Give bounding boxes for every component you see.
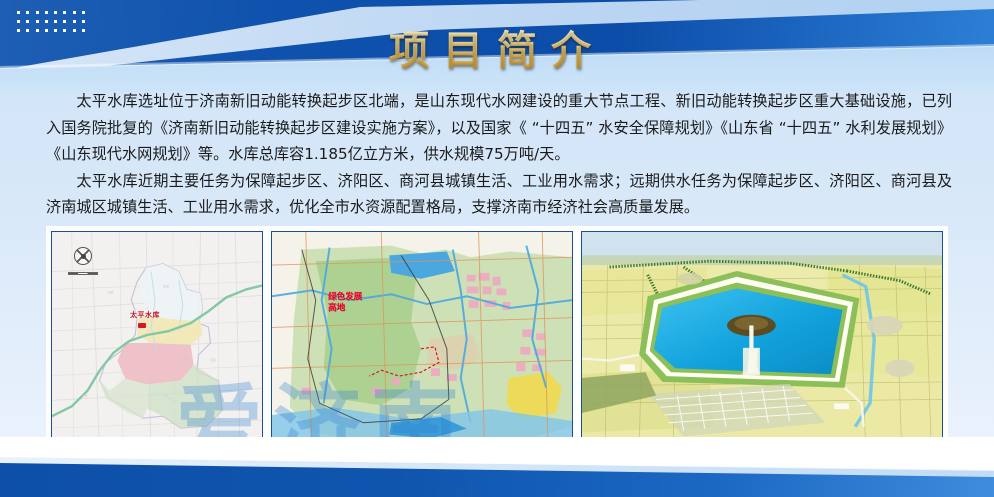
paragraph-1: 太平水库选址位于济南新旧动能转换起步区北端，是山东现代水网建设的重大节点工程、新…	[46, 88, 952, 168]
page-title: 项目简介	[0, 18, 994, 76]
compass-icon	[74, 247, 92, 265]
regional-map-canvas: 县城乡镇 街道城区 南部西部 太平水库	[52, 232, 262, 452]
svg-text:县城: 县城	[163, 283, 169, 288]
panel-landuse-plan[interactable]: 绿色发展 高地	[271, 231, 573, 453]
panel-regional-map[interactable]: 县城乡镇 街道城区 南部西部 太平水库	[51, 231, 263, 453]
paragraph-2: 太平水库近期主要任务为保障起步区、济阳区、商河县城镇生活、工业用水需求；远期供水…	[46, 168, 952, 221]
panel-aerial-rendering[interactable]	[581, 231, 943, 453]
body-text-block: 太平水库选址位于济南新旧动能转换起步区北端，是山东现代水网建设的重大节点工程、新…	[46, 88, 952, 221]
slide-root: 项目简介 太平水库选址位于济南新旧动能转换起步区北端，是山东现代水网建设的重大节…	[0, 0, 994, 497]
landuse-map-label-line1: 绿色发展	[328, 292, 362, 303]
reservoir-map-label: 太平水库	[130, 310, 160, 320]
svg-text:西部: 西部	[82, 392, 88, 397]
landuse-map-canvas: 绿色发展 高地	[272, 232, 572, 452]
slide-footer	[0, 437, 994, 497]
landuse-map-graphic	[272, 232, 572, 452]
svg-text:南部: 南部	[201, 416, 207, 421]
svg-text:乡镇: 乡镇	[107, 289, 113, 294]
scale-bar-icon	[68, 272, 98, 275]
regional-map-roads: 县城乡镇 街道城区 南部西部	[52, 232, 262, 453]
svg-text:城区: 城区	[183, 355, 189, 360]
image-gallery: 县城乡镇 街道城区 南部西部 太平水库	[46, 226, 948, 458]
landuse-map-label-line2: 高地	[328, 303, 362, 314]
svg-text:街道: 街道	[210, 357, 216, 362]
aerial-rendering-canvas	[582, 232, 942, 452]
aerial-rendering-graphic	[582, 232, 942, 452]
landuse-map-label: 绿色发展 高地	[328, 292, 362, 314]
reservoir-location-marker	[138, 323, 146, 328]
